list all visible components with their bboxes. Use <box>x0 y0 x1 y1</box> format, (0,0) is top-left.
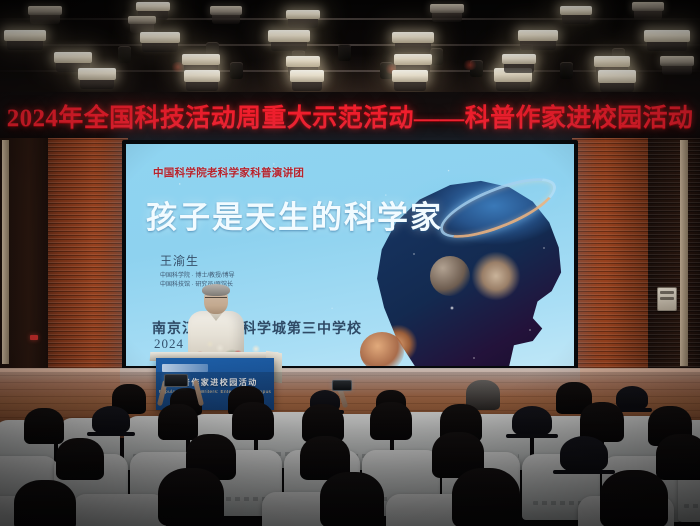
stage-light-fixture <box>518 30 558 41</box>
slide-speaker-name: 王渝生 <box>160 252 199 269</box>
stage-light-fixture <box>560 6 592 15</box>
stage-light-fixture <box>394 54 432 65</box>
stage-light-fixture <box>78 68 116 80</box>
stage-light-fixture <box>28 6 62 15</box>
audience-member <box>158 468 224 526</box>
stage-light-fixture <box>210 6 242 15</box>
audience-member <box>320 472 384 526</box>
audience-member <box>370 402 412 440</box>
stage-light-fixture <box>392 32 434 43</box>
audience-member-cap <box>92 406 130 434</box>
audience-member-cap <box>616 386 648 410</box>
ceiling-light-rig <box>0 0 700 96</box>
stage-light-fixture <box>268 30 310 42</box>
wall-indicator-light <box>30 335 38 340</box>
stage-light-fixture <box>644 30 690 42</box>
slide-credential-line-1: 中国科学院 · 博士/教授/博导 <box>160 272 235 281</box>
audience-member-cap <box>512 406 552 436</box>
wall-dark-strip-right <box>648 138 700 372</box>
audience-member <box>14 480 76 526</box>
event-headline-text: 2024年全国科技活动周重大示范活动——科普作家进校园活动 <box>0 92 700 140</box>
stage-light-fixture <box>430 4 464 13</box>
smartphone-recording[interactable] <box>332 380 352 391</box>
auditorium-photo: 2024年全国科技活动周重大示范活动——科普作家进校园活动 中国科学院老科学家科… <box>0 0 700 526</box>
audience-member <box>452 468 520 526</box>
event-headline-banner: 2024年全国科技活动周重大示范活动——科普作家进校园活动 <box>0 92 700 140</box>
door-frame-right <box>680 140 688 366</box>
audience-seating <box>0 372 700 526</box>
stage-light-fixture <box>286 56 320 67</box>
smartphone-recording[interactable] <box>164 374 188 387</box>
wall-control-panel[interactable] <box>657 287 677 311</box>
audience-member <box>158 404 198 440</box>
stage-light-fixture <box>136 2 170 11</box>
audience-member <box>232 402 274 440</box>
stage-light-fixture <box>54 52 92 63</box>
slide-title-text: 孩子是天生的科学家 <box>146 192 443 237</box>
stage-light-fixture <box>182 54 220 65</box>
stage-light-fixture <box>140 32 180 43</box>
audience-member <box>600 470 668 526</box>
audience-member-cap <box>560 436 608 472</box>
stage-light-fixture <box>290 70 324 82</box>
slide-date-text: 2024 <box>154 336 184 352</box>
stage-light-fixture <box>660 56 694 66</box>
audience-member <box>56 438 104 480</box>
stage-light-fixture <box>502 54 536 64</box>
stage-light-fixture <box>286 10 320 19</box>
planet-graphic-small <box>430 256 470 296</box>
stage-light-fixture <box>598 70 636 83</box>
stage-light-fixture <box>632 2 664 11</box>
audience-member <box>24 408 64 444</box>
audience-member <box>656 434 700 480</box>
stage-light-fixture <box>392 70 428 82</box>
stage-light-fixture <box>184 70 220 82</box>
stage-light-fixture <box>4 30 46 41</box>
slide-organization-text: 中国科学院老科学家科普演讲团 <box>153 165 304 180</box>
auditorium-seat <box>72 494 166 526</box>
door-frame-left <box>2 140 9 364</box>
planet-graphic-bottom <box>360 332 404 366</box>
podium-logo <box>162 364 208 372</box>
eyeglasses <box>205 297 227 303</box>
stage-light-fixture <box>128 16 156 24</box>
stage-light-fixture <box>594 56 630 67</box>
